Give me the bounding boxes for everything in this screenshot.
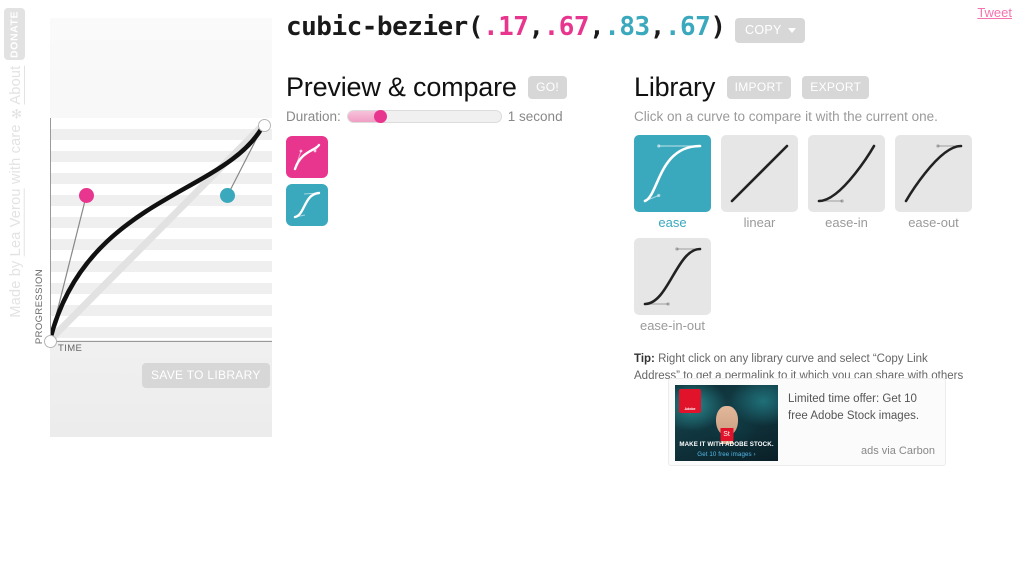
value-p1x[interactable]: .17 [483,12,528,42]
library-item-ease-out[interactable]: ease-out [895,135,972,230]
preview-tiles [286,136,606,226]
library-item-ease-in[interactable]: ease-in [808,135,885,230]
duration-slider-thumb[interactable] [374,110,387,123]
chevron-down-icon [788,28,796,33]
tip-label: Tip: [634,353,655,365]
author-link[interactable]: Lea Verou [8,188,24,256]
library-thumb-ease-in-out[interactable] [634,238,711,315]
import-button[interactable]: IMPORT [727,76,791,99]
bezier-app: DONATE Made by Lea Verou with care ✻Abou… [0,0,1024,561]
value-p2x[interactable]: .83 [604,12,649,42]
library-curve-ease-icon [634,135,711,212]
close-paren: ) [710,12,725,42]
control-handle-p2[interactable] [220,188,235,203]
adobe-stock-badge-icon: St [720,428,733,441]
func-name: cubic-bezier( [286,12,483,42]
credit-prefix: Made by [8,256,24,317]
asterisk-icon: ✻ [8,105,23,120]
control-handle-p1[interactable] [79,188,94,203]
duration-value: 1 second [508,109,563,124]
library-thumb-ease[interactable] [634,135,711,212]
duration-label: Duration: [286,109,341,124]
duration-row: Duration: 1 second [286,109,606,124]
ad-attribution[interactable]: ads via Carbon [861,445,935,457]
credit-suffix: with care [8,120,24,188]
ad-cta-link[interactable]: Get 10 free images › [675,450,778,459]
library-label-ease-in: ease-in [808,215,885,230]
ad-text[interactable]: Limited time offer: Get 10 free Adobe St… [788,391,935,426]
library-thumb-ease-in[interactable] [808,135,885,212]
library-label-linear: linear [721,215,798,230]
credit-text: Made by Lea Verou with care ✻About [8,66,24,318]
library-label-ease-out: ease-out [895,215,972,230]
library-item-linear[interactable]: linear [721,135,798,230]
y-axis-label: PROGRESSION [34,269,45,344]
value-p1y[interactable]: .67 [544,12,589,42]
library-thumb-linear[interactable] [721,135,798,212]
adobe-logo-sub: Adobe [685,407,696,411]
library-thumb-ease-out[interactable] [895,135,972,212]
curve-end-point [258,119,271,132]
value-p2y[interactable]: .67 [665,12,710,42]
library-curve-ease-in-icon [808,135,885,212]
left-sidebar: DONATE Made by Lea Verou with care ✻Abou… [0,0,34,561]
curve-start-point [44,335,57,348]
about-link[interactable]: About [8,66,24,105]
tweet-link[interactable]: Tweet [977,5,1012,20]
x-axis-label: TIME [58,343,82,354]
preview-curve-current-icon [286,136,328,178]
copy-button[interactable]: COPY [735,18,805,43]
bezier-value-title: cubic-bezier(.17,.67,.83,.67) [286,12,726,42]
curve-svg [50,118,272,340]
carbon-ad-panel[interactable]: Adobe St MAKE IT WITH ADOBE STOCK. Get 1… [668,378,946,466]
preview-section: Preview & compare GO! Duration: 1 second [286,72,606,232]
ad-banner-caption: MAKE IT WITH ADOBE STOCK. Get 10 free im… [675,440,778,459]
preview-curve-compare-icon [286,184,328,226]
copy-label: COPY [745,23,782,37]
linear-reference-line [50,124,264,340]
donate-button[interactable]: DONATE [4,8,25,60]
library-label-ease-in-out: ease-in-out [634,318,711,333]
library-item-ease-in-out[interactable]: ease-in-out [634,238,711,333]
ad-body: Limited time offer: Get 10 free Adobe St… [778,385,939,459]
library-curve-ease-in-out-icon [634,238,711,315]
comma-1: , [528,12,543,42]
x-axis-line [50,341,272,342]
library-item-ease[interactable]: ease [634,135,711,230]
save-to-library-button[interactable]: SAVE TO LIBRARY [142,363,270,388]
library-curve-linear-icon [721,135,798,212]
comma-3: , [650,12,665,42]
preview-tile-current[interactable] [286,136,328,178]
library-title: Library [634,72,715,103]
adobe-logo-icon: Adobe [679,389,701,413]
y-axis-line [50,118,51,342]
library-label-ease: ease [634,215,711,230]
library-grid: easelinearease-inease-outease-in-out [634,135,974,333]
export-button[interactable]: EXPORT [802,76,869,99]
library-hint: Click on a curve to compare it with the … [634,109,1014,124]
library-section: Library IMPORT EXPORT Click on a curve t… [634,72,1014,384]
duration-slider[interactable] [347,110,502,123]
curve-editor-canvas[interactable] [50,118,272,340]
comma-2: , [589,12,604,42]
ad-headline: MAKE IT WITH ADOBE STOCK. [679,441,773,448]
go-button[interactable]: GO! [528,76,567,99]
ad-banner-image[interactable]: Adobe St MAKE IT WITH ADOBE STOCK. Get 1… [675,385,778,461]
library-curve-ease-out-icon [895,135,972,212]
preview-title: Preview & compare [286,72,517,103]
preview-tile-compare[interactable] [286,184,328,226]
